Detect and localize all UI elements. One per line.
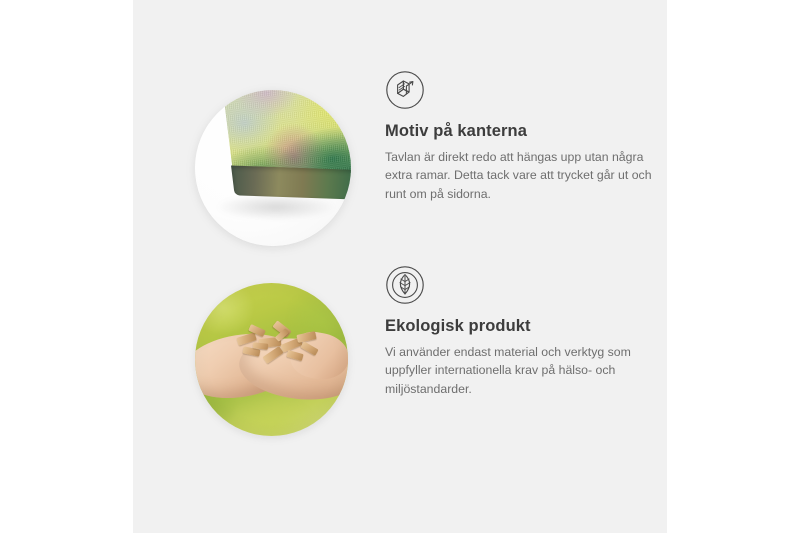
content-panel: Motiv på kanterna Tavlan är direkt redo … bbox=[133, 0, 667, 533]
canvas-wrapped-edge bbox=[231, 166, 351, 200]
feature-body-text: Tavlan är direkt redo att hängas upp uta… bbox=[385, 148, 653, 204]
feature-block-ecological: Ekologisk produkt Vi använder endast mat… bbox=[133, 265, 667, 450]
canvas-wrap-icon bbox=[385, 70, 425, 110]
feature-heading: Motiv på kanterna bbox=[385, 122, 653, 142]
feature-body-text: Vi använder endast material och verktyg … bbox=[385, 343, 663, 399]
photo-vignette bbox=[195, 283, 348, 436]
canvas-block bbox=[222, 90, 351, 205]
product-feature-panel: Motiv på kanterna Tavlan är direkt redo … bbox=[0, 0, 800, 533]
hands-holding-wood-chips-photo bbox=[195, 283, 348, 436]
leaf-icon bbox=[385, 265, 425, 305]
feature-text-canvas-edges: Motiv på kanterna Tavlan är direkt redo … bbox=[385, 70, 653, 204]
feature-heading: Ekologisk produkt bbox=[385, 317, 663, 337]
feature-block-canvas-edges: Motiv på kanterna Tavlan är direkt redo … bbox=[133, 70, 667, 270]
canvas-print-corner-photo bbox=[195, 90, 351, 246]
feature-text-ecological: Ekologisk produkt Vi använder endast mat… bbox=[385, 265, 663, 399]
